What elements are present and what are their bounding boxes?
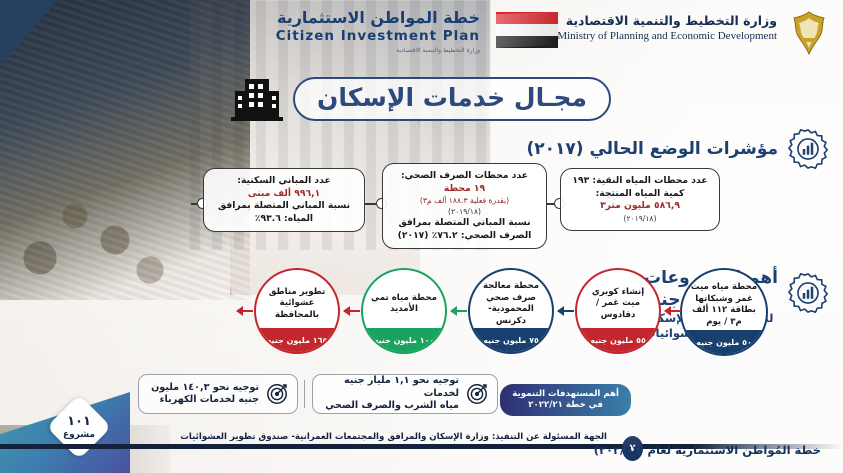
- target-electricity: توجيه نحو ١٤٠,٣ مليون جنيه لخدمات الكهرب…: [138, 374, 298, 414]
- targets-badge-line-1: أهم المستهدفات التنموية: [512, 389, 619, 400]
- target-line-1: توجيه نحو ١,١ مليار جنيه لخدمات: [322, 375, 459, 400]
- project-slums-development[interactable]: تطوير مناطق عشوائية بالمحافظة ١٦٥ مليون …: [254, 268, 340, 354]
- ministry-arabic-name: وزارة التخطيط والتنمية الاقتصادية: [527, 12, 777, 29]
- project-label: تطوير مناطق عشوائية بالمحافظة: [256, 287, 338, 322]
- flow-arrow: [665, 310, 681, 312]
- indicator-line: عدد محطات الصرف الصحي:: [391, 170, 538, 183]
- targets-badge: أهم المستهدفات التنموية في خطة ٢٠٢٢/٢١: [500, 384, 631, 416]
- ministry-block: وزارة التخطيط والتنمية الاقتصادية Minist…: [527, 12, 777, 43]
- projects-count-word: مشروع: [63, 429, 95, 441]
- responsible-entity-text: الجهة المسئولة عن التنفيذ: وزارة الإسكان…: [180, 432, 607, 442]
- project-mit-ghamr-water-network[interactable]: محطة مياه ميت غمر وشبكاتها بطاقة ١١٢ ألف…: [680, 268, 768, 356]
- ministry-english-name: Ministry of Planning and Economic Develo…: [527, 29, 777, 43]
- flow-arrow: [451, 310, 467, 312]
- target-water-sanitation: توجيه نحو ١,١ مليار جنيه لخدمات مياه الش…: [312, 374, 498, 414]
- indicator-box-residential-buildings: عدد المباني السكنية: ٩٩٦,١ ألف مبنى نسبة…: [203, 168, 365, 232]
- indicator-line: نسبة المباني المتصلة بمرافق: [212, 200, 356, 213]
- project-amount: ٥٥ مليون جنيه: [577, 328, 659, 352]
- page-title-text: مجـال خدمات الإسكان: [293, 77, 611, 121]
- project-amount: ١٠٠ مليون جنيه: [363, 328, 445, 352]
- project-label: محطة مياه تمي الأمديد: [363, 293, 445, 316]
- target-icon: [266, 383, 288, 405]
- project-mahmoudia-dekernes-sanitation[interactable]: محطة معالجة صرف صحي المحمودية- دكرنس ٧٥ …: [468, 268, 554, 354]
- logo-arabic-text: خطة المواطن الاستثمارية: [270, 8, 480, 28]
- infographic-page: خطة المواطن الاستثمارية Citizen Investme…: [0, 0, 843, 473]
- indicator-line: الصرف الصحي: ٧٦.٢٪ (٢٠١٧): [391, 230, 538, 243]
- project-label: محطة مياه ميت غمر وشبكاتها بطاقة ١١٢ ألف…: [682, 282, 766, 328]
- indicator-box-water-stations: عدد محطات المياه النقية: ١٩٣ كمية المياه…: [560, 168, 720, 231]
- indicators-heading-text: مؤشرات الوضع الحالي (٢٠١٧): [526, 139, 778, 159]
- citizen-investment-plan-logo: خطة المواطن الاستثمارية Citizen Investme…: [270, 8, 480, 56]
- flow-arrow: [558, 310, 574, 312]
- target-text: توجيه نحو ١٤٠,٣ مليون جنيه لخدمات الكهرب…: [151, 382, 259, 407]
- projects-count-number: ١٠١: [67, 414, 91, 429]
- indicator-line: المياه: ٩٣.٦٪: [212, 213, 356, 226]
- plan-footer-label: خطة المُواطن الاستثمارية لعام (٢٠٢/٢١): [594, 443, 821, 457]
- indicators-section-header: مؤشرات الوضع الحالي (٢٠١٧): [526, 128, 829, 170]
- building-icon: [231, 77, 283, 121]
- target-line-1: توجيه نحو ١٤٠,٣ مليون: [151, 382, 259, 395]
- project-tami-elamdid-water[interactable]: محطة مياه تمي الأمديد ١٠٠ مليون جنيه: [361, 268, 447, 354]
- target-icon: [466, 383, 488, 405]
- indicator-value: ٩٩٦,١ ألف مبنى: [212, 188, 356, 201]
- project-mit-ghamr-bridge[interactable]: إنشاء كوبري ميت غمر / دقادوس ٥٥ مليون جن…: [575, 268, 661, 354]
- flow-arrow: [344, 310, 360, 312]
- page-title: مجـال خدمات الإسكان: [231, 78, 611, 120]
- project-label: محطة معالجة صرف صحي المحمودية- دكرنس: [470, 281, 552, 327]
- indicator-note: (بقدرة فعلية ١٨٨.٣ ألف م٣): [391, 195, 538, 206]
- indicator-year: (٢٠١٩/١٨): [391, 206, 538, 217]
- indicator-line: كمية المياه المنتجة:: [569, 188, 711, 201]
- indicator-year: (٢٠١٩/١٨): [569, 213, 711, 224]
- logo-subtitle: وزارة التخطيط والتنمية الاقتصادية: [270, 45, 480, 56]
- target-text: توجيه نحو ١,١ مليار جنيه لخدمات مياه الش…: [322, 375, 459, 413]
- indicator-line: عدد محطات المياه النقية: ١٩٣: [569, 175, 711, 188]
- project-label: إنشاء كوبري ميت غمر / دقادوس: [577, 287, 659, 322]
- gear-chart-icon: [787, 272, 829, 314]
- gear-chart-icon: [787, 128, 829, 170]
- targets-divider: [304, 380, 305, 408]
- targets-badge-line-2: في خطة ٢٠٢٢/٢١: [512, 400, 619, 411]
- indicator-value: ٥٨٦,٩ مليون متر٣: [569, 200, 711, 213]
- project-amount: ٥٠ مليون جنيه: [682, 330, 766, 354]
- target-line-2: مياه الشرب والصرف الصحي: [322, 400, 459, 413]
- target-line-2: جنيه لخدمات الكهرباء: [151, 394, 259, 407]
- indicator-line: عدد المباني السكنية:: [212, 175, 356, 188]
- logo-english-text: Citizen Investment Plan: [270, 28, 480, 45]
- indicator-value: ١٩ محطة: [391, 183, 538, 196]
- corner-accent-top-left: [0, 0, 58, 66]
- eagle-of-saladin-icon: [787, 8, 831, 58]
- indicator-box-sanitation-stations: عدد محطات الصرف الصحي: ١٩ محطة (بقدرة فع…: [382, 163, 547, 249]
- project-amount: ٧٥ مليون جنيه: [470, 328, 552, 352]
- flow-arrow: [237, 310, 253, 312]
- indicator-line: نسبة المباني المتصلة بمرافق: [391, 217, 538, 230]
- project-amount: ١٦٥ مليون جنيه: [256, 328, 338, 352]
